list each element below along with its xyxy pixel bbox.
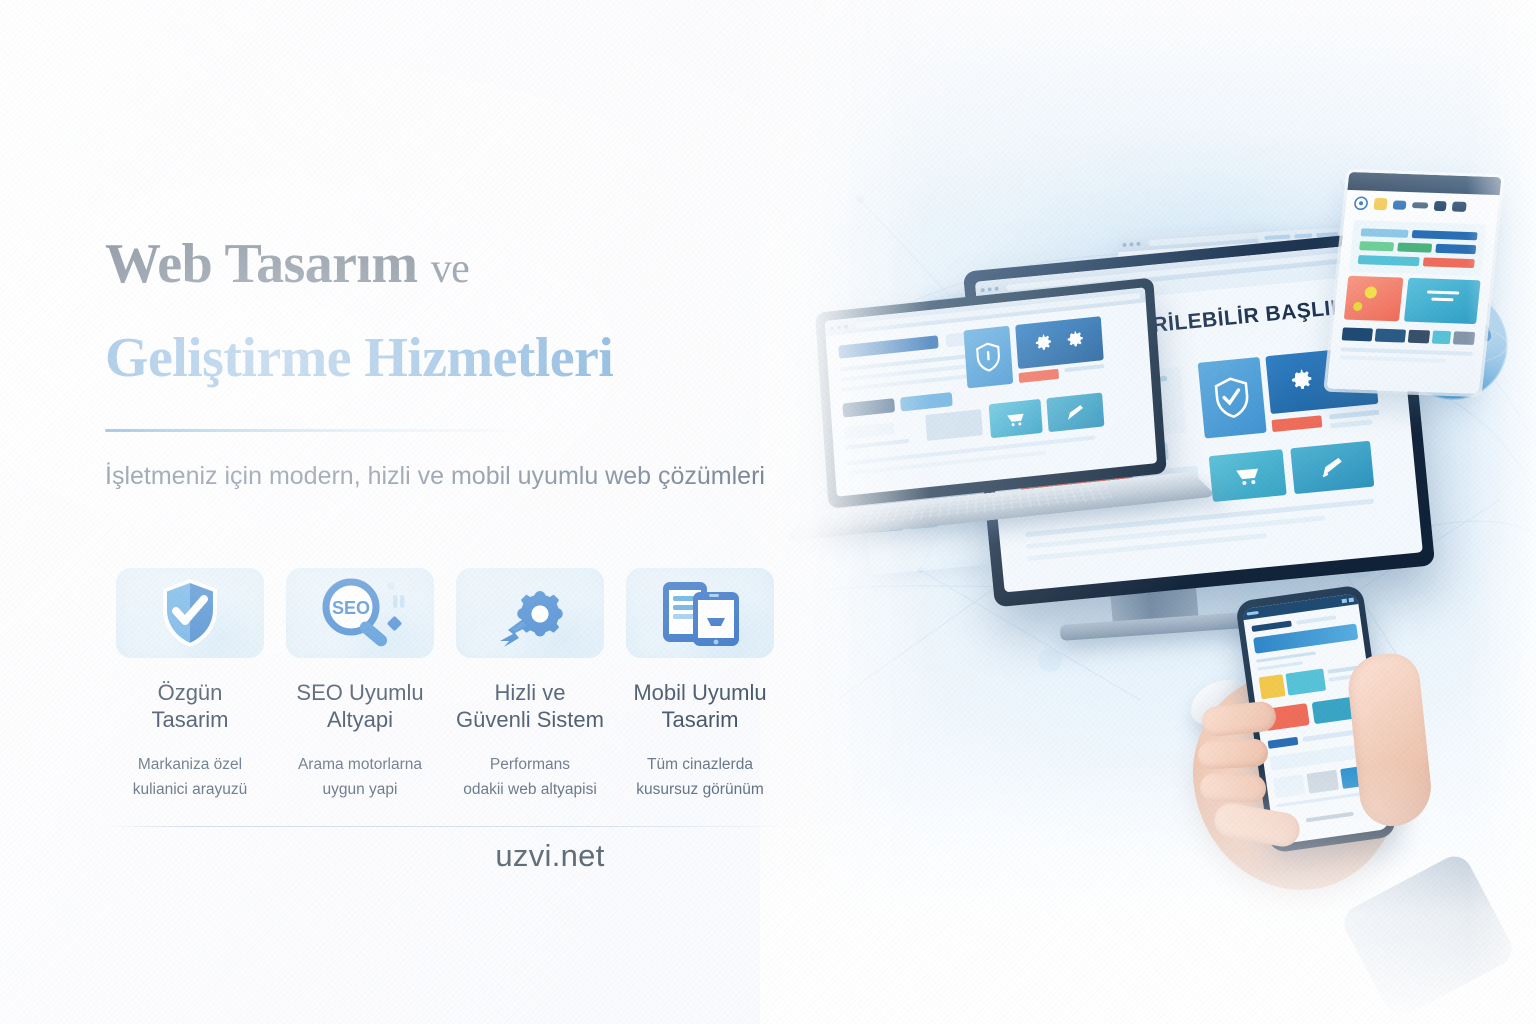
illustration-bottom-fade (760, 764, 1536, 1024)
headline-primary: Web Tasarım (105, 233, 417, 295)
pencil-icon (1317, 454, 1347, 481)
feature-title: Hizli ve Güvenli Sistem (456, 680, 604, 734)
headline-divider (105, 429, 530, 432)
shield-icon (975, 341, 1001, 373)
seo-magnifier-icon: SEO (307, 577, 413, 649)
monitor-alert-bar (1271, 415, 1322, 432)
cart-icon (1005, 410, 1026, 427)
laptop-pencil-tile (1046, 392, 1104, 432)
monitor-shield-tile (1198, 357, 1267, 439)
headline-conjunction: ve (431, 246, 469, 292)
feature-title: Mobil Uyumlu Tasarim (633, 680, 766, 734)
feature-card-mobil-uyumlu[interactable]: Mobil Uyumlu Tasarim Tüm cinazlerda kusu… (615, 568, 785, 802)
hero-subtitle: İşletmeniz için modern, hizli ve mobil u… (105, 456, 805, 497)
feature-icon-tile: SEO (286, 568, 434, 658)
illustration-right-fade (1466, 0, 1536, 1024)
feature-card-hizli-guvenli[interactable]: Hizli ve Güvenli Sistem Performans odaki… (445, 568, 615, 802)
feature-description: Markaniza özel kulianici arayuzü (133, 752, 248, 802)
feature-list: Özgün Tasarim Markaniza özel kulianici a… (105, 568, 785, 802)
rocket-gear-icon (482, 575, 578, 651)
headline-line-1: Web Tasarım ve (105, 236, 805, 293)
shield-check-icon (158, 576, 222, 650)
shield-icon (1213, 375, 1251, 420)
feature-card-ozgun-tasarim[interactable]: Özgün Tasarim Markaniza özel kulianici a… (105, 568, 275, 802)
feature-description: Performans odakii web altyapisi (463, 752, 597, 802)
poster-canvas: ÖZELLEŞTİRİLEBİLİR BAŞLIK (0, 0, 1536, 1024)
laptop-alert-bar (1019, 369, 1059, 383)
feature-description: Tüm cinazlerda kusursuz görünüm (636, 752, 764, 802)
monitor-pencil-tile (1290, 441, 1374, 494)
site-footer: uzvi.net (0, 838, 1100, 874)
headline-line-2: Geliştirme Hizmetleri (105, 330, 845, 387)
laptop-shield-tile (963, 326, 1013, 389)
tablet-phone-icon (657, 578, 743, 648)
pencil-icon (1064, 402, 1087, 423)
feature-description: Arama motorlarna uygun yapi (298, 752, 422, 802)
gear-icon (1032, 332, 1055, 356)
laptop-gear-tile (1015, 316, 1104, 369)
tablet-media-tile-warm (1344, 276, 1404, 322)
feature-title: Özgün Tasarim (151, 680, 228, 734)
svg-text:SEO: SEO (332, 598, 370, 618)
gear-icon (1287, 367, 1318, 398)
cart-icon (1234, 464, 1262, 486)
laptop-cart-tile (989, 399, 1043, 438)
feature-icon-tile (626, 568, 774, 658)
monitor-cart-tile (1209, 449, 1287, 502)
feature-title: SEO Uyumlu Altyapi (296, 680, 423, 734)
footer-divider (105, 826, 805, 827)
gear-icon (1064, 329, 1087, 353)
hero-content: Web Tasarım ve Geliştirme Hizmetleri İşl… (0, 0, 820, 1024)
feature-card-seo-altyapi[interactable]: SEO SEO Uyumlu Altyapi Arama motorlarna … (275, 568, 445, 802)
feature-icon-tile (456, 568, 604, 658)
feature-icon-tile (116, 568, 264, 658)
